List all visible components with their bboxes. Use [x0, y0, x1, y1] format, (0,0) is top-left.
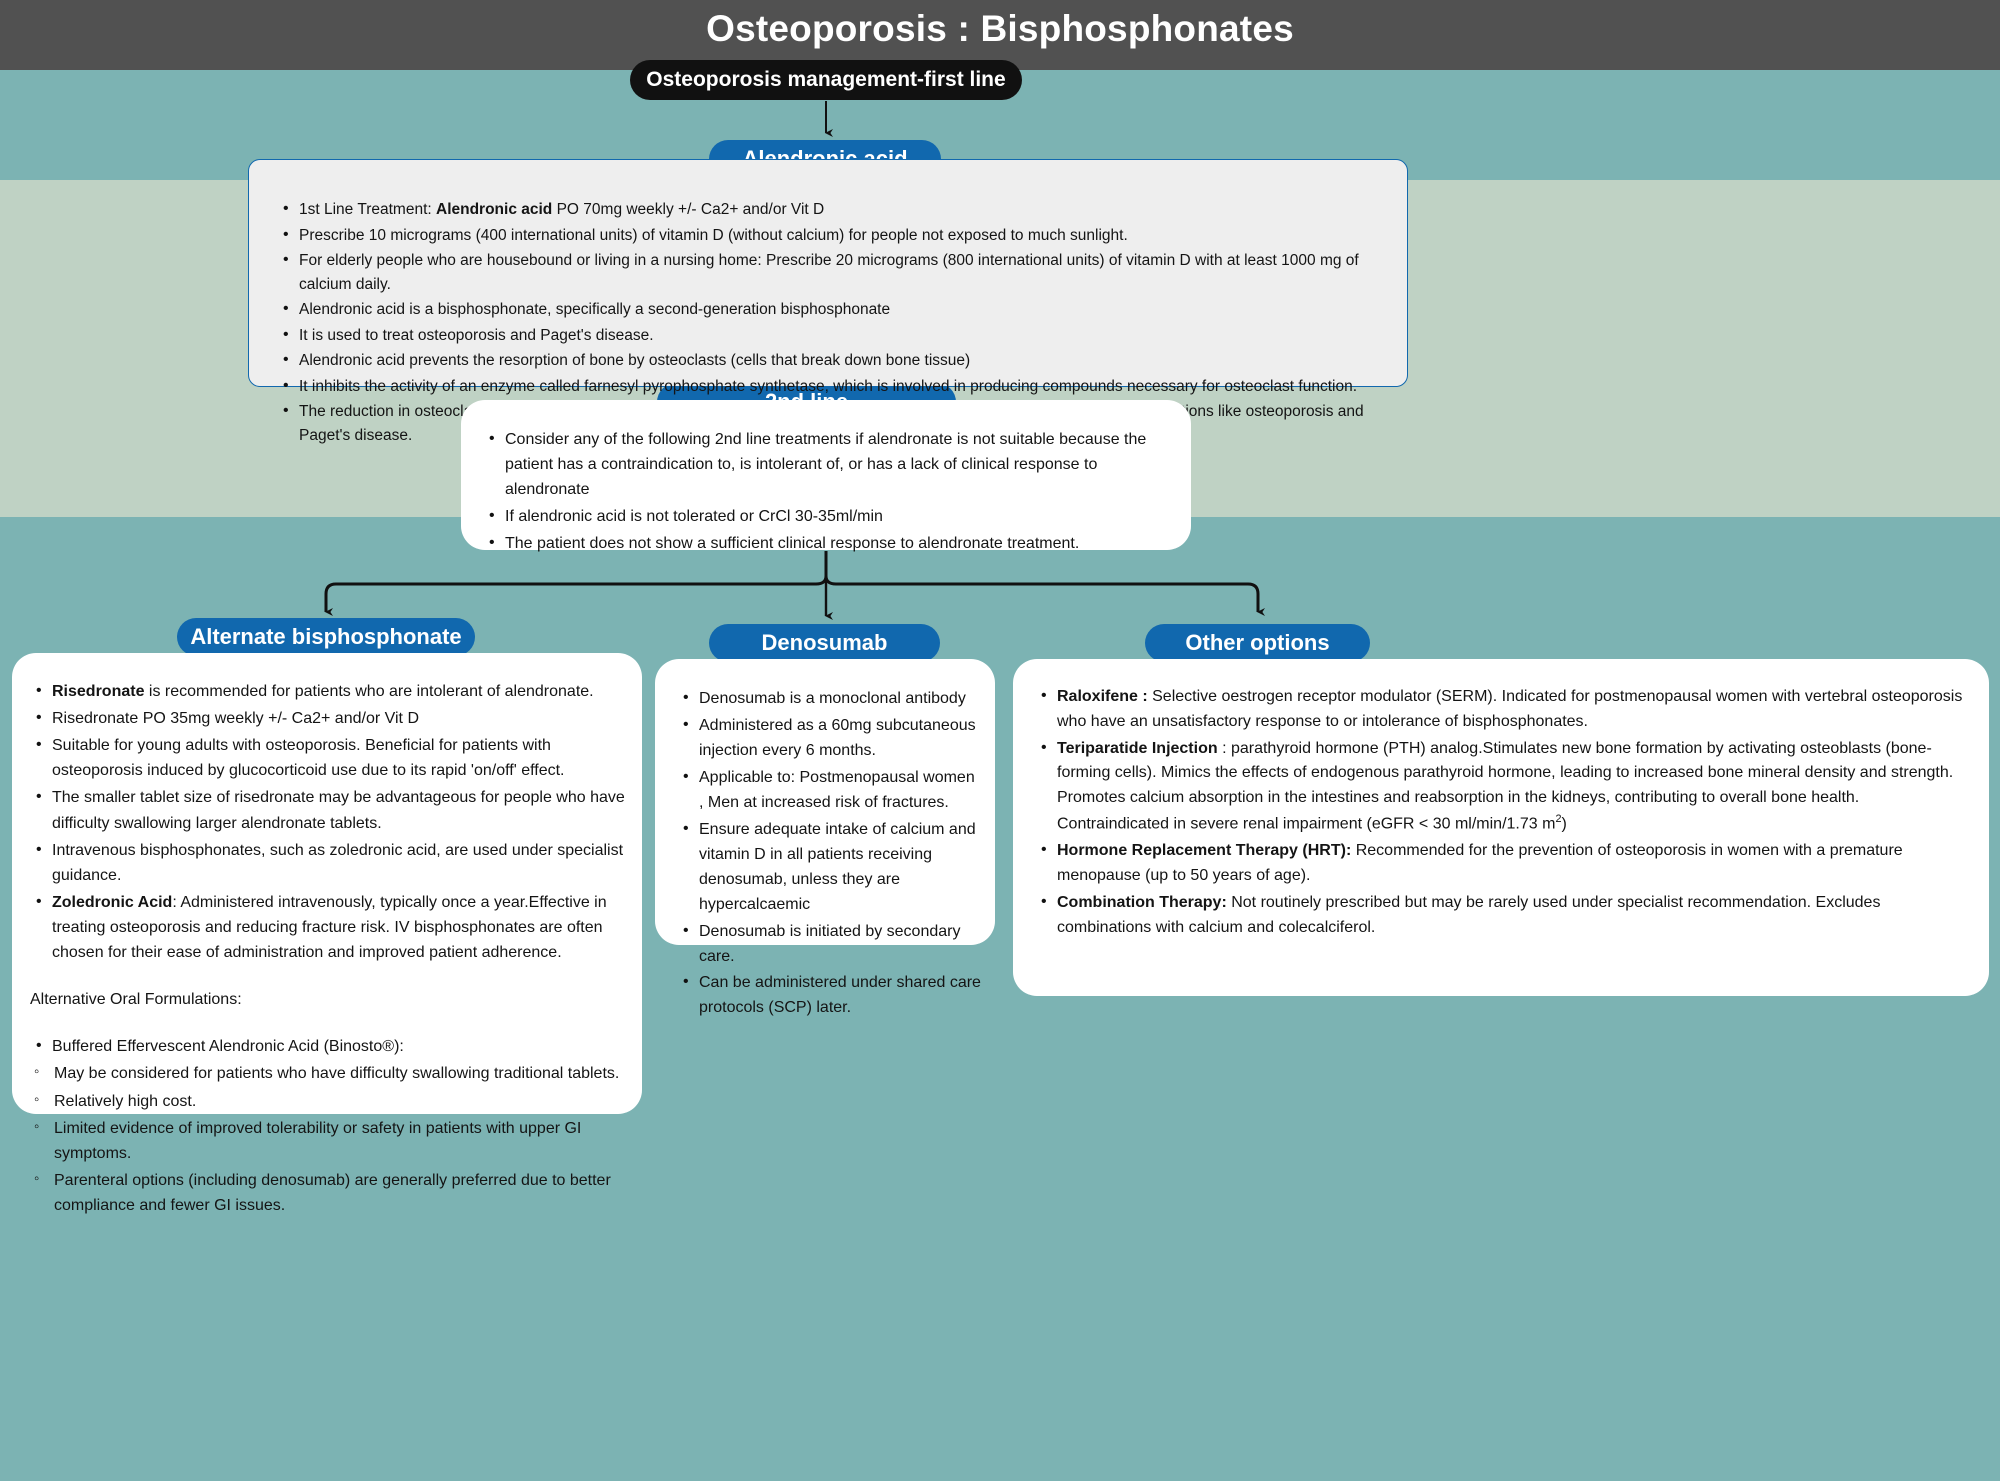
- alternate-sub-bullet-group: Buffered Effervescent Alendronic Acid (B…: [30, 1034, 630, 1218]
- list-item: Consider any of the following 2nd line t…: [483, 428, 1175, 503]
- list-item: Intravenous bisphosphonates, such as zol…: [30, 838, 630, 888]
- list-item: Applicable to: Postmenopausal women , Me…: [677, 766, 981, 816]
- node-other-options[interactable]: Other options: [1145, 624, 1370, 662]
- alternate-subheading: Alternative Oral Formulations:: [30, 987, 630, 1012]
- page-title: Osteoporosis : Bisphosphonates: [0, 8, 2000, 50]
- list-item: Can be administered under shared care pr…: [677, 971, 981, 1021]
- list-item: The smaller tablet size of risedronate m…: [30, 785, 630, 835]
- card-alternate-bisphosphonate: Risedronate is recommended for patients …: [12, 653, 642, 1114]
- list-item: Suitable for young adults with osteoporo…: [30, 733, 630, 783]
- card-other-options: Raloxifene : Selective oestrogen recepto…: [1013, 659, 1989, 996]
- list-item: Denosumab is a monoclonal antibody: [677, 687, 981, 712]
- node-alternate-bisphosphonate[interactable]: Alternate bisphosphonate: [177, 618, 475, 656]
- spacer: [30, 1014, 630, 1034]
- other-options-bullet-list: Raloxifene : Selective oestrogen recepto…: [1035, 685, 1975, 942]
- list-item: Buffered Effervescent Alendronic Acid (B…: [30, 1034, 630, 1059]
- list-item: Limited evidence of improved tolerabilit…: [30, 1116, 630, 1166]
- card-denosumab: Denosumab is a monoclonal antibodyAdmini…: [655, 659, 995, 945]
- list-item: The patient does not show a sufficient c…: [483, 532, 1175, 557]
- list-item: Combination Therapy: Not routinely presc…: [1035, 891, 1975, 941]
- denosumab-bullet-list: Denosumab is a monoclonal antibodyAdmini…: [677, 687, 981, 1023]
- list-item: Alendronic acid prevents the resorption …: [277, 349, 1389, 373]
- list-item: Parenteral options (including denosumab)…: [30, 1168, 630, 1218]
- list-item: It is used to treat osteoporosis and Pag…: [277, 324, 1389, 348]
- list-item: Raloxifene : Selective oestrogen recepto…: [1035, 685, 1975, 735]
- card-alendronic-acid: 1st Line Treatment: Alendronic acid PO 7…: [248, 159, 1408, 387]
- node-root[interactable]: Osteoporosis management-first line: [630, 60, 1022, 100]
- list-item: May be considered for patients who have …: [30, 1061, 630, 1086]
- list-item: Relatively high cost.: [30, 1089, 630, 1114]
- list-item: Administered as a 60mg subcutaneous inje…: [677, 714, 981, 764]
- list-item: Alendronic acid is a bisphosphonate, spe…: [277, 298, 1389, 322]
- list-item: Ensure adequate intake of calcium and vi…: [677, 818, 981, 918]
- list-item: If alendronic acid is not tolerated or C…: [483, 505, 1175, 530]
- list-item: Prescribe 10 micrograms (400 internation…: [277, 224, 1389, 248]
- list-item: Risedronate PO 35mg weekly +/- Ca2+ and/…: [30, 706, 630, 731]
- node-denosumab[interactable]: Denosumab: [709, 624, 940, 662]
- list-item: Teriparatide Injection : parathyroid hor…: [1035, 737, 1975, 838]
- spacer: [30, 967, 630, 987]
- list-item: Zoledronic Acid: Administered intravenou…: [30, 890, 630, 965]
- alternate-bullet-list: Risedronate is recommended for patients …: [30, 679, 630, 965]
- list-item: 1st Line Treatment: Alendronic acid PO 7…: [277, 198, 1389, 222]
- list-item: It inhibits the activity of an enzyme ca…: [277, 375, 1389, 399]
- list-item: Denosumab is initiated by secondary care…: [677, 920, 981, 970]
- alternate-sub-items: May be considered for patients who have …: [30, 1061, 630, 1218]
- second-line-bullet-list: Consider any of the following 2nd line t…: [483, 428, 1175, 559]
- list-item: Hormone Replacement Therapy (HRT): Recom…: [1035, 839, 1975, 889]
- list-item: For elderly people who are housebound or…: [277, 249, 1389, 296]
- list-item: Risedronate is recommended for patients …: [30, 679, 630, 704]
- card-second-line: Consider any of the following 2nd line t…: [461, 400, 1191, 550]
